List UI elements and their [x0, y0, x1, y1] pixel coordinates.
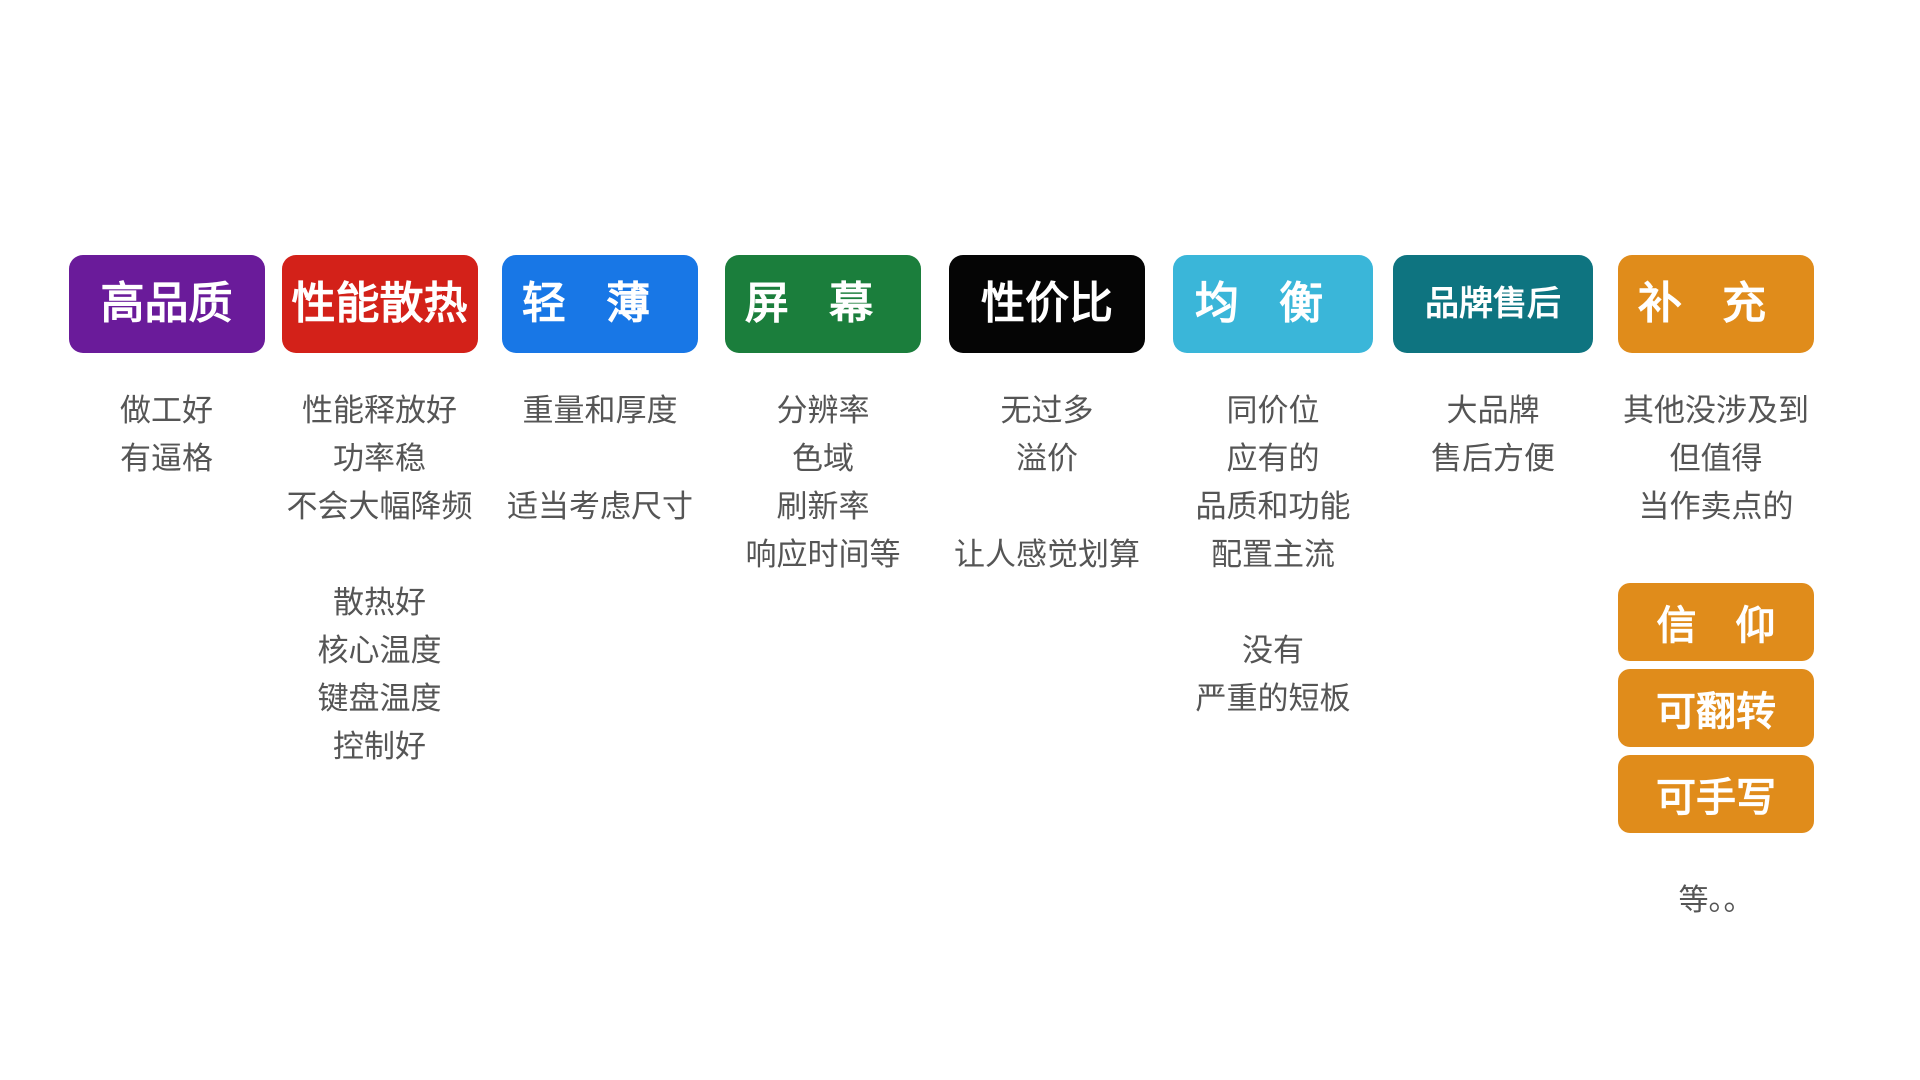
description-line: 同价位 — [1196, 387, 1351, 435]
description-block: 散热好核心温度键盘温度控制好 — [318, 579, 442, 771]
category-tag-brand-service[interactable]: 品牌售后 — [1393, 255, 1593, 353]
description-block: 没有严重的短板 — [1196, 627, 1351, 723]
description-line: 功率稳 — [287, 435, 473, 483]
description-blocks: 其他没涉及到但值得当作卖点的 — [1602, 387, 1830, 531]
description-line: 适当考虑尺寸 — [507, 483, 693, 531]
category-column-value-for-money: 性价比 无过多溢价 让人感觉划算 — [932, 255, 1162, 579]
description-line: 散热好 — [318, 579, 442, 627]
category-tag-value-for-money[interactable]: 性价比 — [949, 255, 1145, 353]
description-blocks: 大品牌售后方便 — [1384, 387, 1602, 483]
description-blocks: 同价位应有的品质和功能配置主流 没有严重的短板 — [1162, 387, 1384, 723]
extras-subtags: 信 仰 可翻转 可手写 — [1618, 583, 1814, 833]
description-block: 无过多溢价 — [1001, 387, 1094, 483]
description-block: 性能释放好功率稳不会大幅降频 — [287, 387, 473, 531]
description-line: 当作卖点的 — [1623, 483, 1809, 531]
category-tag-screen[interactable]: 屏 幕 — [725, 255, 921, 353]
description-blocks: 性能释放好功率稳不会大幅降频 散热好核心温度键盘温度控制好 — [273, 387, 486, 771]
description-line: 应有的 — [1196, 435, 1351, 483]
description-line: 大品牌 — [1431, 387, 1555, 435]
description-line: 没有 — [1196, 627, 1351, 675]
extras-subtag-stylus[interactable]: 可手写 — [1618, 755, 1814, 833]
description-line: 色域 — [746, 435, 901, 483]
description-line: 性能释放好 — [287, 387, 473, 435]
description-line: 响应时间等 — [746, 531, 901, 579]
description-block: 大品牌售后方便 — [1431, 387, 1555, 483]
description-line: 严重的短板 — [1196, 675, 1351, 723]
description-blocks: 无过多溢价 让人感觉划算 — [932, 387, 1162, 579]
description-line: 无过多 — [1001, 387, 1094, 435]
extras-subtag-convertible[interactable]: 可翻转 — [1618, 669, 1814, 747]
description-block: 重量和厚度 — [523, 387, 678, 435]
category-tag-performance-cooling[interactable]: 性能散热 — [282, 255, 478, 353]
description-blocks: 重量和厚度 适当考虑尺寸 — [486, 387, 714, 531]
description-line: 让人感觉划算 — [954, 531, 1140, 579]
extras-subtag-faith[interactable]: 信 仰 — [1618, 583, 1814, 661]
description-line: 但值得 — [1623, 435, 1809, 483]
category-column-extras: 补 充 其他没涉及到但值得当作卖点的 信 仰 可翻转 可手写 等。。 — [1602, 255, 1830, 919]
description-blocks: 分辨率色域刷新率响应时间等 — [714, 387, 932, 579]
description-block: 同价位应有的品质和功能配置主流 — [1196, 387, 1351, 579]
category-column-screen: 屏 幕 分辨率色域刷新率响应时间等 — [714, 255, 932, 579]
category-column-performance-cooling: 性能散热 性能释放好功率稳不会大幅降频 散热好核心温度键盘温度控制好 — [273, 255, 486, 771]
description-line: 核心温度 — [318, 627, 442, 675]
description-block: 分辨率色域刷新率响应时间等 — [746, 387, 901, 579]
description-line: 键盘温度 — [318, 675, 442, 723]
description-line: 重量和厚度 — [523, 387, 678, 435]
category-column-thin-light: 轻 薄 重量和厚度 适当考虑尺寸 — [486, 255, 714, 531]
description-line: 分辨率 — [746, 387, 901, 435]
description-line: 控制好 — [318, 723, 442, 771]
category-tag-high-quality[interactable]: 高品质 — [69, 255, 265, 353]
description-line: 品质和功能 — [1196, 483, 1351, 531]
description-block: 让人感觉划算 — [954, 531, 1140, 579]
category-tag-extras[interactable]: 补 充 — [1618, 255, 1814, 353]
extras-footnote: 等。。 — [1679, 875, 1754, 919]
description-line: 刷新率 — [746, 483, 901, 531]
description-line: 其他没涉及到 — [1623, 387, 1809, 435]
category-column-brand-service: 品牌售后 大品牌售后方便 — [1384, 255, 1602, 483]
description-line: 做工好 — [120, 387, 213, 435]
description-line: 配置主流 — [1196, 531, 1351, 579]
description-line: 有逼格 — [120, 435, 213, 483]
description-block: 其他没涉及到但值得当作卖点的 — [1623, 387, 1809, 531]
description-line: 溢价 — [1001, 435, 1094, 483]
description-block: 做工好有逼格 — [120, 387, 213, 483]
description-line: 售后方便 — [1431, 435, 1555, 483]
description-blocks: 做工好有逼格 — [60, 387, 273, 483]
infographic-board: 高品质 做工好有逼格 性能散热 性能释放好功率稳不会大幅降频 散热好核心温度键盘… — [0, 0, 1920, 1080]
category-column-balanced: 均 衡 同价位应有的品质和功能配置主流 没有严重的短板 — [1162, 255, 1384, 723]
description-line: 不会大幅降频 — [287, 483, 473, 531]
category-column-high-quality: 高品质 做工好有逼格 — [60, 255, 273, 483]
category-columns: 高品质 做工好有逼格 性能散热 性能释放好功率稳不会大幅降频 散热好核心温度键盘… — [60, 255, 1870, 919]
category-tag-thin-light[interactable]: 轻 薄 — [502, 255, 698, 353]
category-tag-balanced[interactable]: 均 衡 — [1173, 255, 1373, 353]
description-block: 适当考虑尺寸 — [507, 483, 693, 531]
